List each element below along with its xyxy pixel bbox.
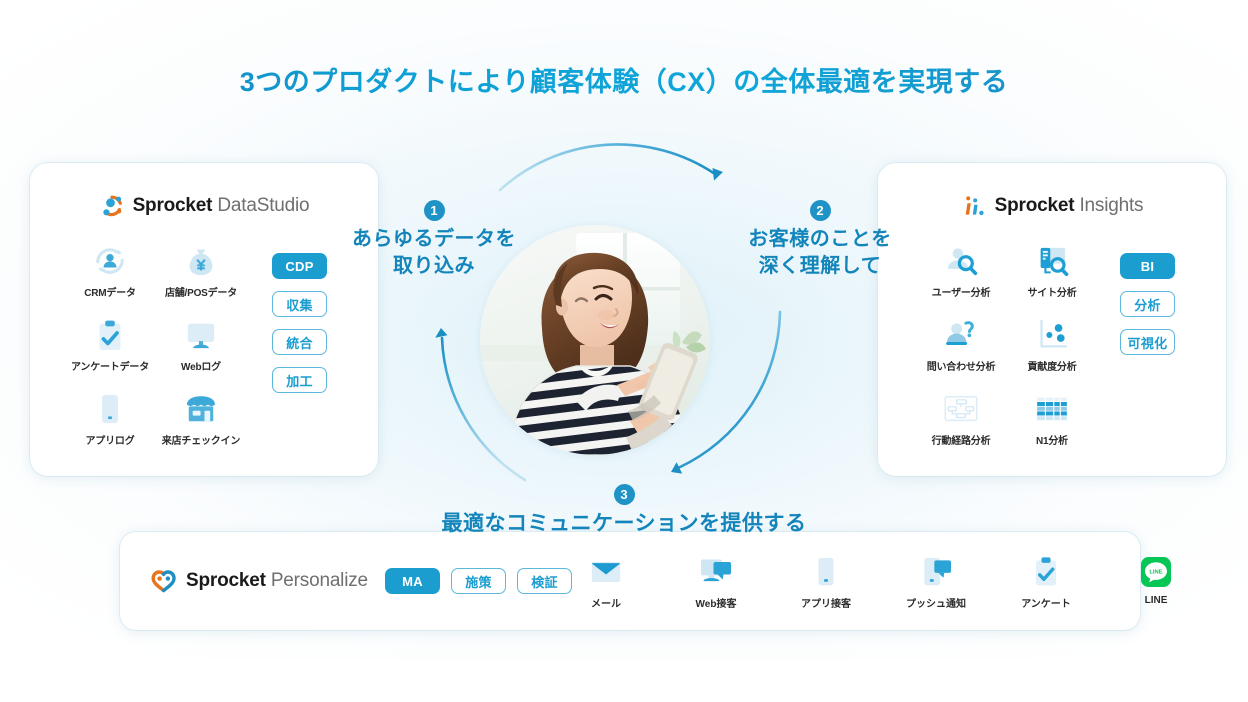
channel-label: LINE [1145,595,1168,606]
step-line-1: お客様のことを [722,226,918,253]
channel-label: プッシュ通知 [906,595,966,610]
smartphone-icon [89,388,131,430]
logo-brand: Sprocket [995,195,1075,216]
logo-wordmark: Sprocket DataStudio [133,195,310,217]
app-phone-icon [806,552,846,592]
badge-cdp[interactable]: CDP [272,253,327,279]
logo-product: DataStudio [217,195,309,216]
step-line-2: 深く理解して [722,253,918,280]
step-line-1: あらゆるデータを [336,226,532,253]
item-label: サイト分析 [1028,284,1077,299]
channel-line[interactable]: LINE LINE [1125,552,1187,610]
logo-wordmark: Sprocket Personalize [186,570,368,592]
diagram-canvas: 3つのプロダクトにより顧客体験（CX）の全体最適を実現する Sprocket D… [0,0,1248,702]
item-label: 来店チェックイン [162,432,240,447]
sprocket-dots-icon [99,193,125,219]
svg-text:LINE: LINE [1149,569,1162,575]
person-question-icon [940,314,982,356]
envelope-icon [586,552,626,592]
desktop-monitor-icon [180,314,222,356]
item-pos-data[interactable]: 店舗/POSデータ [156,240,246,312]
scatter-plot-icon [1031,314,1073,356]
logo-product: Personalize [271,570,368,591]
clipboard-check-icon [89,314,131,356]
arrowhead-left [435,328,447,338]
item-label: CRMデータ [84,284,136,299]
step-line-1: 最適なコミュニケーションを提供する [0,510,1248,538]
badge-kensho[interactable]: 検証 [517,568,572,594]
cycle-step-3: 3 最適なコミュニケーションを提供する [0,484,1248,538]
item-label: 店舗/POSデータ [165,284,237,299]
insights-icon-grid: ユーザー分析 サイト分析 問い合わせ分析 [916,240,1097,460]
item-n1-analysis[interactable]: N1分析 [1007,388,1097,460]
item-contribution-analysis[interactable]: 貢献度分析 [1007,314,1097,386]
cycle-step-1: 1 あらゆるデータを 取り込み [336,200,532,280]
personalize-badges: MA 施策 検証 [385,568,572,594]
line-app-icon: LINE [1136,552,1176,592]
channel-push[interactable]: プッシュ通知 [905,552,967,610]
personalize-channel-list: メール Web接客 アプリ接客 [575,552,1187,610]
channel-app[interactable]: アプリ接客 [795,552,857,610]
sprocket-heart-icon [150,568,178,594]
logo-wordmark: Sprocket Insights [995,195,1144,217]
sprocket-personalize-logo: Sprocket Personalize [150,568,368,594]
storefront-icon [180,388,222,430]
logo-brand: Sprocket [186,570,266,591]
item-label: アンケートデータ [71,358,149,373]
item-label: 行動経路分析 [932,432,991,447]
crm-sync-person-icon [89,240,131,282]
page-title: 3つのプロダクトにより顧客体験（CX）の全体最適を実現する [0,60,1248,99]
sprocket-insights-logo: Sprocket Insights [878,193,1226,219]
item-label: ユーザー分析 [932,284,991,299]
data-table-icon [1031,388,1073,430]
badge-bunseki[interactable]: 分析 [1120,291,1175,317]
item-label: Webログ [181,358,221,373]
badge-ma[interactable]: MA [385,568,440,594]
item-label: N1分析 [1036,432,1068,447]
badge-bi[interactable]: BI [1120,253,1175,279]
channel-label: メール [591,595,621,610]
item-web-log[interactable]: Webログ [156,314,246,386]
insights-badges: BI 分析 可視化 [1120,253,1175,355]
channel-label: アプリ接客 [801,595,851,610]
channel-label: アンケート [1021,595,1071,610]
datastudio-badges: CDP 収集 統合 加工 [272,253,327,393]
channel-email[interactable]: メール [575,552,637,610]
item-label: 問い合わせ分析 [927,358,996,373]
item-site-analysis[interactable]: サイト分析 [1007,240,1097,312]
badge-shushu[interactable]: 収集 [272,291,327,317]
step-number: 1 [424,200,445,221]
channel-label: Web接客 [696,595,737,610]
channel-survey[interactable]: アンケート [1015,552,1077,610]
flowchart-icon [940,388,982,430]
person-magnifier-icon [940,240,982,282]
survey-clipboard-icon [1026,552,1066,592]
cycle-step-2: 2 お客様のことを 深く理解して [722,200,918,280]
sprocket-bars-icon [961,193,987,219]
item-crm-data[interactable]: CRMデータ [65,240,155,312]
logo-product: Insights [1079,195,1143,216]
step-line-2: 取り込み [336,253,532,280]
item-store-checkin[interactable]: 来店チェックイン [156,388,246,460]
datastudio-icon-grid: CRMデータ 店舗/POSデータ アンケートデータ [65,240,246,460]
push-notification-icon [916,552,956,592]
badge-kako[interactable]: 加工 [272,367,327,393]
cx-cycle: 1 あらゆるデータを 取り込み 2 お客様のことを 深く理解して [330,120,930,540]
item-app-log[interactable]: アプリログ [65,388,155,460]
badge-togo[interactable]: 統合 [272,329,327,355]
web-chat-icon [696,552,736,592]
badge-shisaku[interactable]: 施策 [451,568,506,594]
panel-personalize: Sprocket Personalize MA 施策 検証 メール [120,532,1140,630]
item-survey-data[interactable]: アンケートデータ [65,314,155,386]
channel-web-chat[interactable]: Web接客 [685,552,747,610]
money-bag-yen-icon [180,240,222,282]
arrowhead-top [713,168,724,181]
item-label: アプリログ [86,432,135,447]
server-magnifier-icon [1031,240,1073,282]
step-number: 2 [810,200,831,221]
step-number: 3 [614,484,635,505]
item-label: 貢献度分析 [1028,358,1077,373]
sprocket-datastudio-logo: Sprocket DataStudio [30,193,378,219]
logo-brand: Sprocket [133,195,213,216]
badge-kashika[interactable]: 可視化 [1120,329,1175,355]
